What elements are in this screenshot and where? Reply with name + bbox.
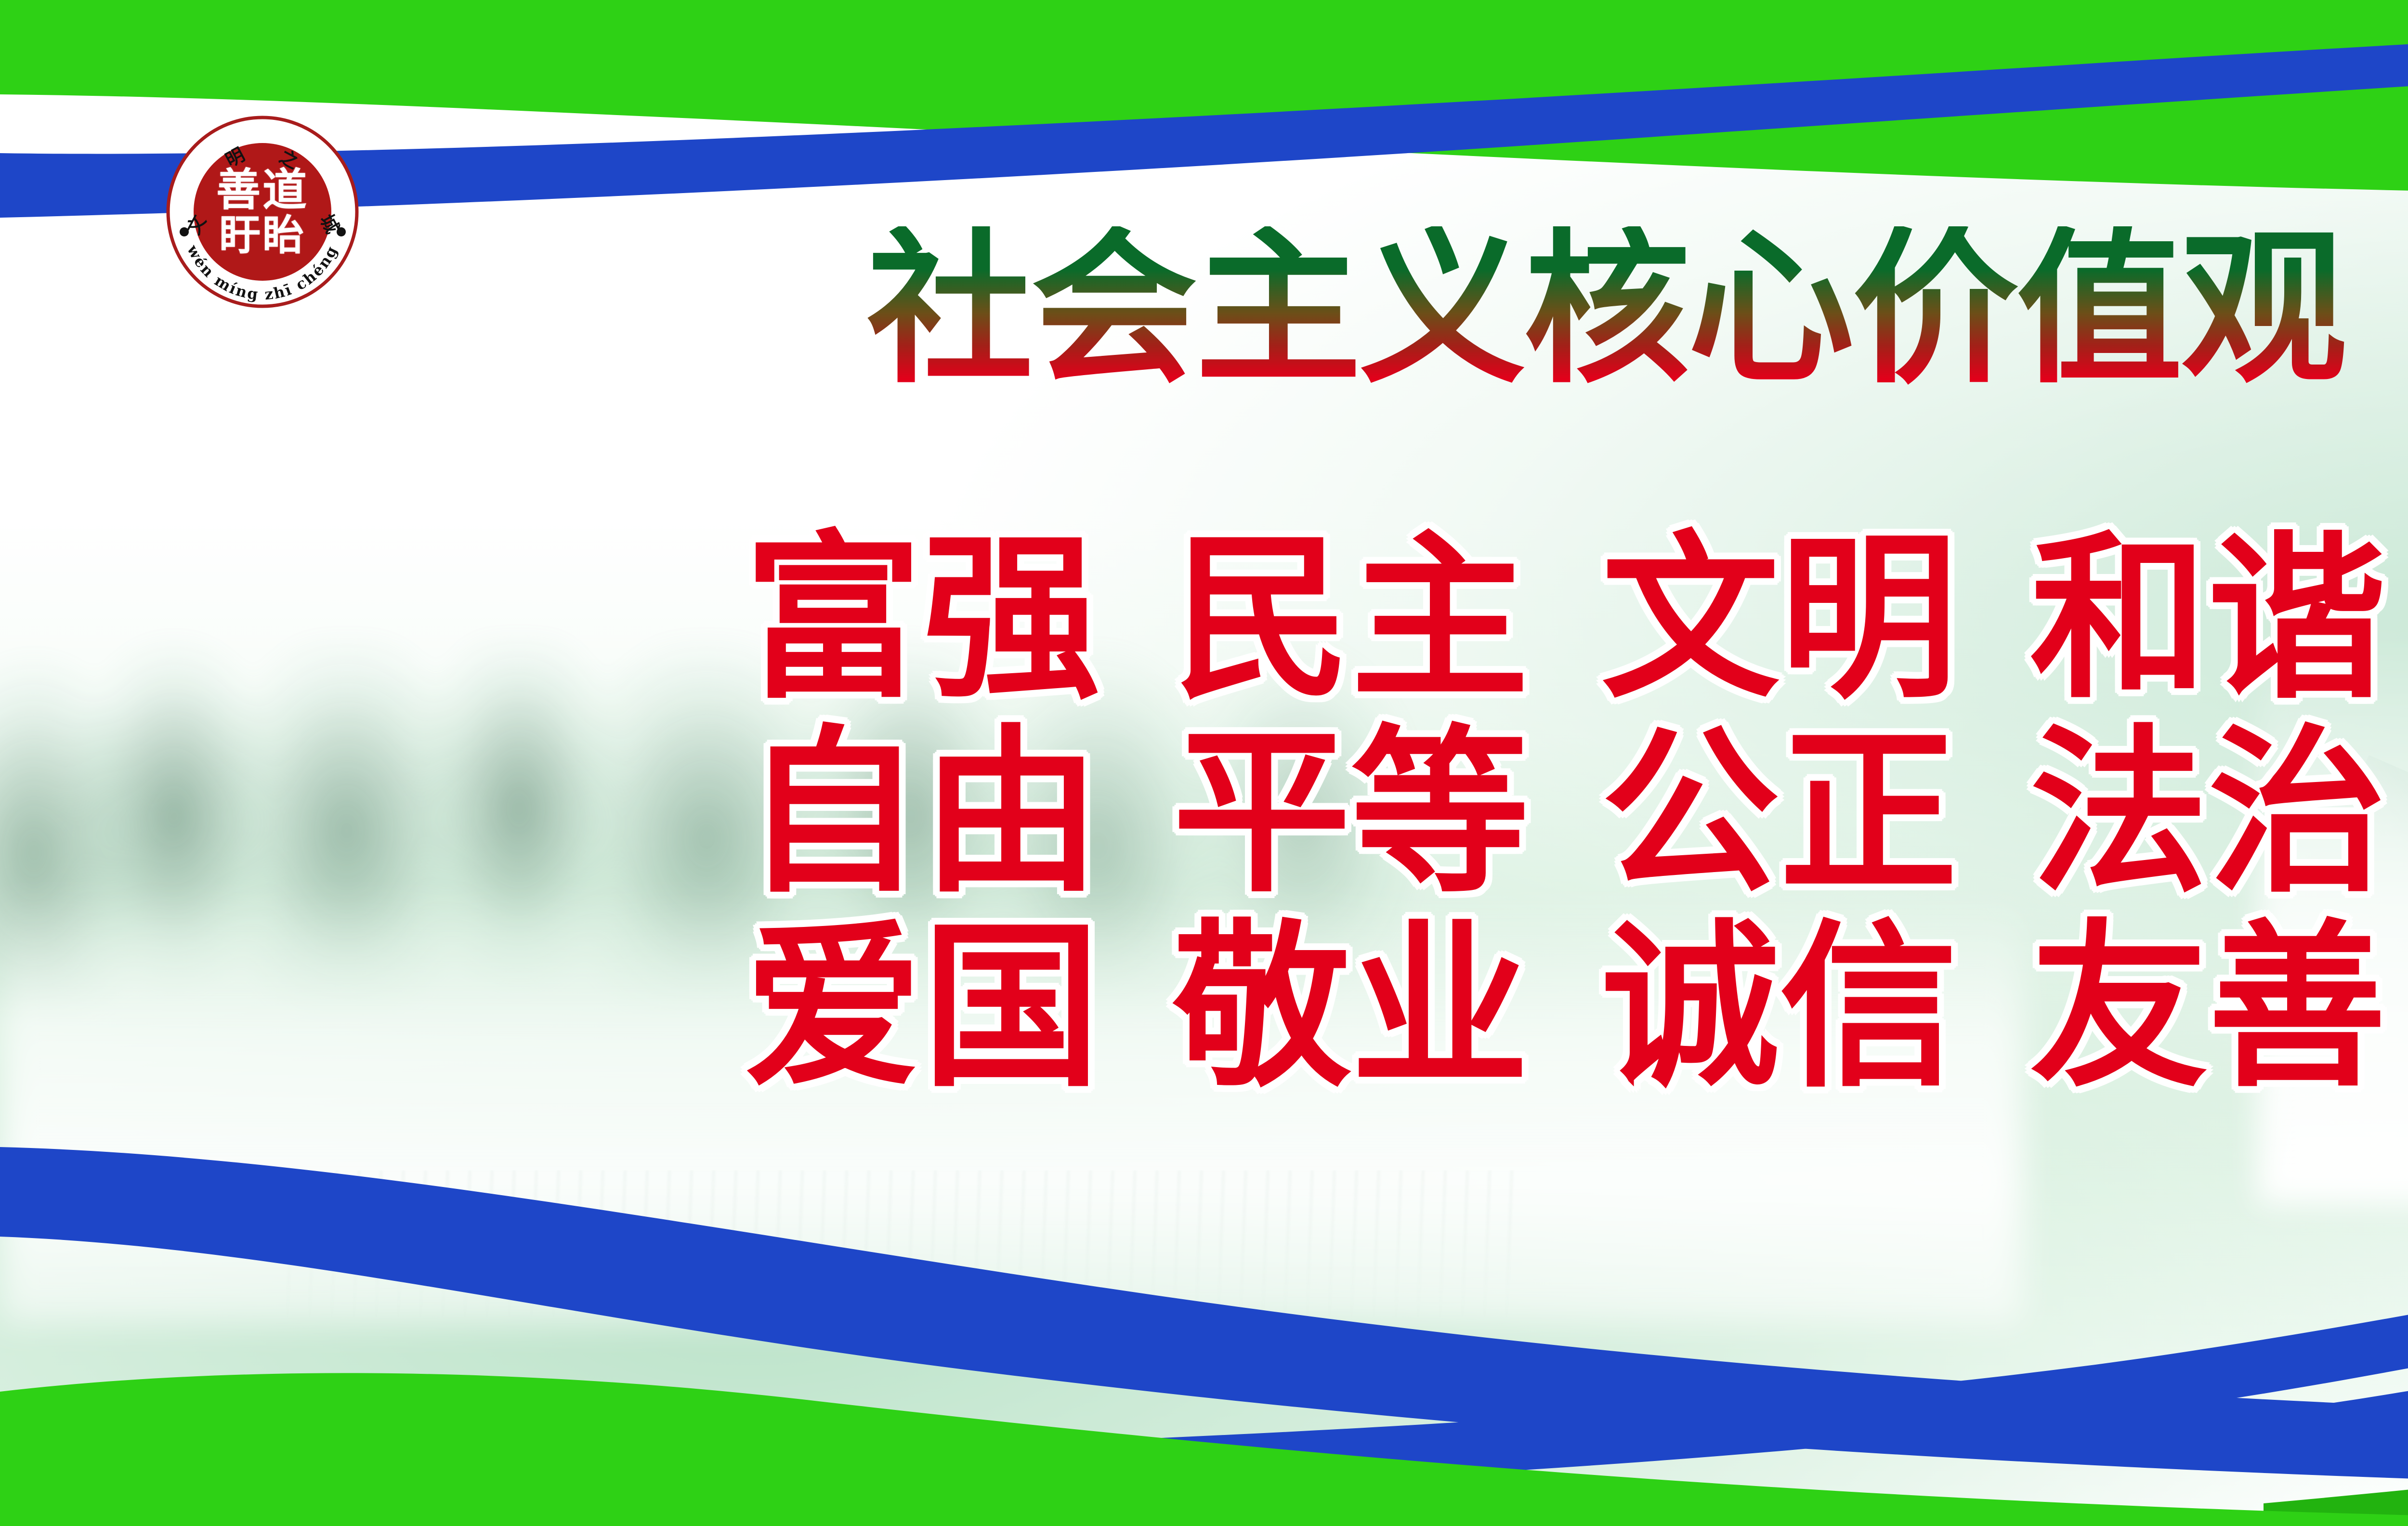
value-word: 和谐 <box>2030 522 2386 717</box>
value-gap <box>1100 911 1173 1105</box>
value-word: 诚信 <box>1601 911 1958 1105</box>
value-word: 友善 <box>2030 911 2386 1105</box>
core-values-row-1: 富强 民主 文明 和谐 <box>744 522 2408 717</box>
value-word: 民主 <box>1173 522 1529 717</box>
value-word: 爱国 <box>744 911 1100 1105</box>
logo-pinyin-arc: wén míng zhī chéng <box>166 116 359 308</box>
value-word: 法治 <box>2030 717 2386 911</box>
value-gap <box>1100 717 1173 911</box>
value-word: 平等 <box>1173 717 1529 911</box>
value-word: 文明 <box>1601 522 1958 717</box>
value-gap <box>1529 522 1601 717</box>
blue-ribbon-top <box>0 0 2408 218</box>
value-gap <box>1958 717 2030 911</box>
water-reed-marks <box>270 1170 1522 1329</box>
value-gap <box>1529 911 1601 1105</box>
city-emblem-logo[interactable]: 文 明 之 城 wén míng zhī chéng 善道 盱眙 <box>166 116 359 308</box>
green-ribbon-bottom-left <box>0 1373 2408 1526</box>
value-gap <box>1958 522 2030 717</box>
propaganda-board: 文 明 之 城 wén míng zhī chéng 善道 盱眙 社会主义核心价… <box>0 0 2408 1526</box>
value-word: 富强 <box>744 522 1100 717</box>
value-gap <box>1100 522 1173 717</box>
core-values-list: 富强 民主 文明 和谐 自由 平等 公正 法治 爱国 敬业 诚信 友善 <box>744 522 2408 1105</box>
green-ribbon-top <box>0 0 2408 195</box>
value-word: 敬业 <box>1173 911 1529 1105</box>
core-values-row-2: 自由 平等 公正 法治 <box>744 717 2408 911</box>
distant-boat <box>905 1300 1093 1334</box>
core-values-row-3: 爱国 敬业 诚信 友善 <box>744 911 2408 1105</box>
value-gap <box>1529 717 1601 911</box>
logo-pinyin-text: wén míng zhī chéng <box>183 242 341 303</box>
value-gap <box>1958 911 2030 1105</box>
value-word: 公正 <box>1601 717 1958 911</box>
page-title: 社会主义核心价值观 <box>867 226 2408 392</box>
green-ribbon-bottom-right <box>2264 1353 2408 1526</box>
value-word: 自由 <box>744 717 1100 911</box>
